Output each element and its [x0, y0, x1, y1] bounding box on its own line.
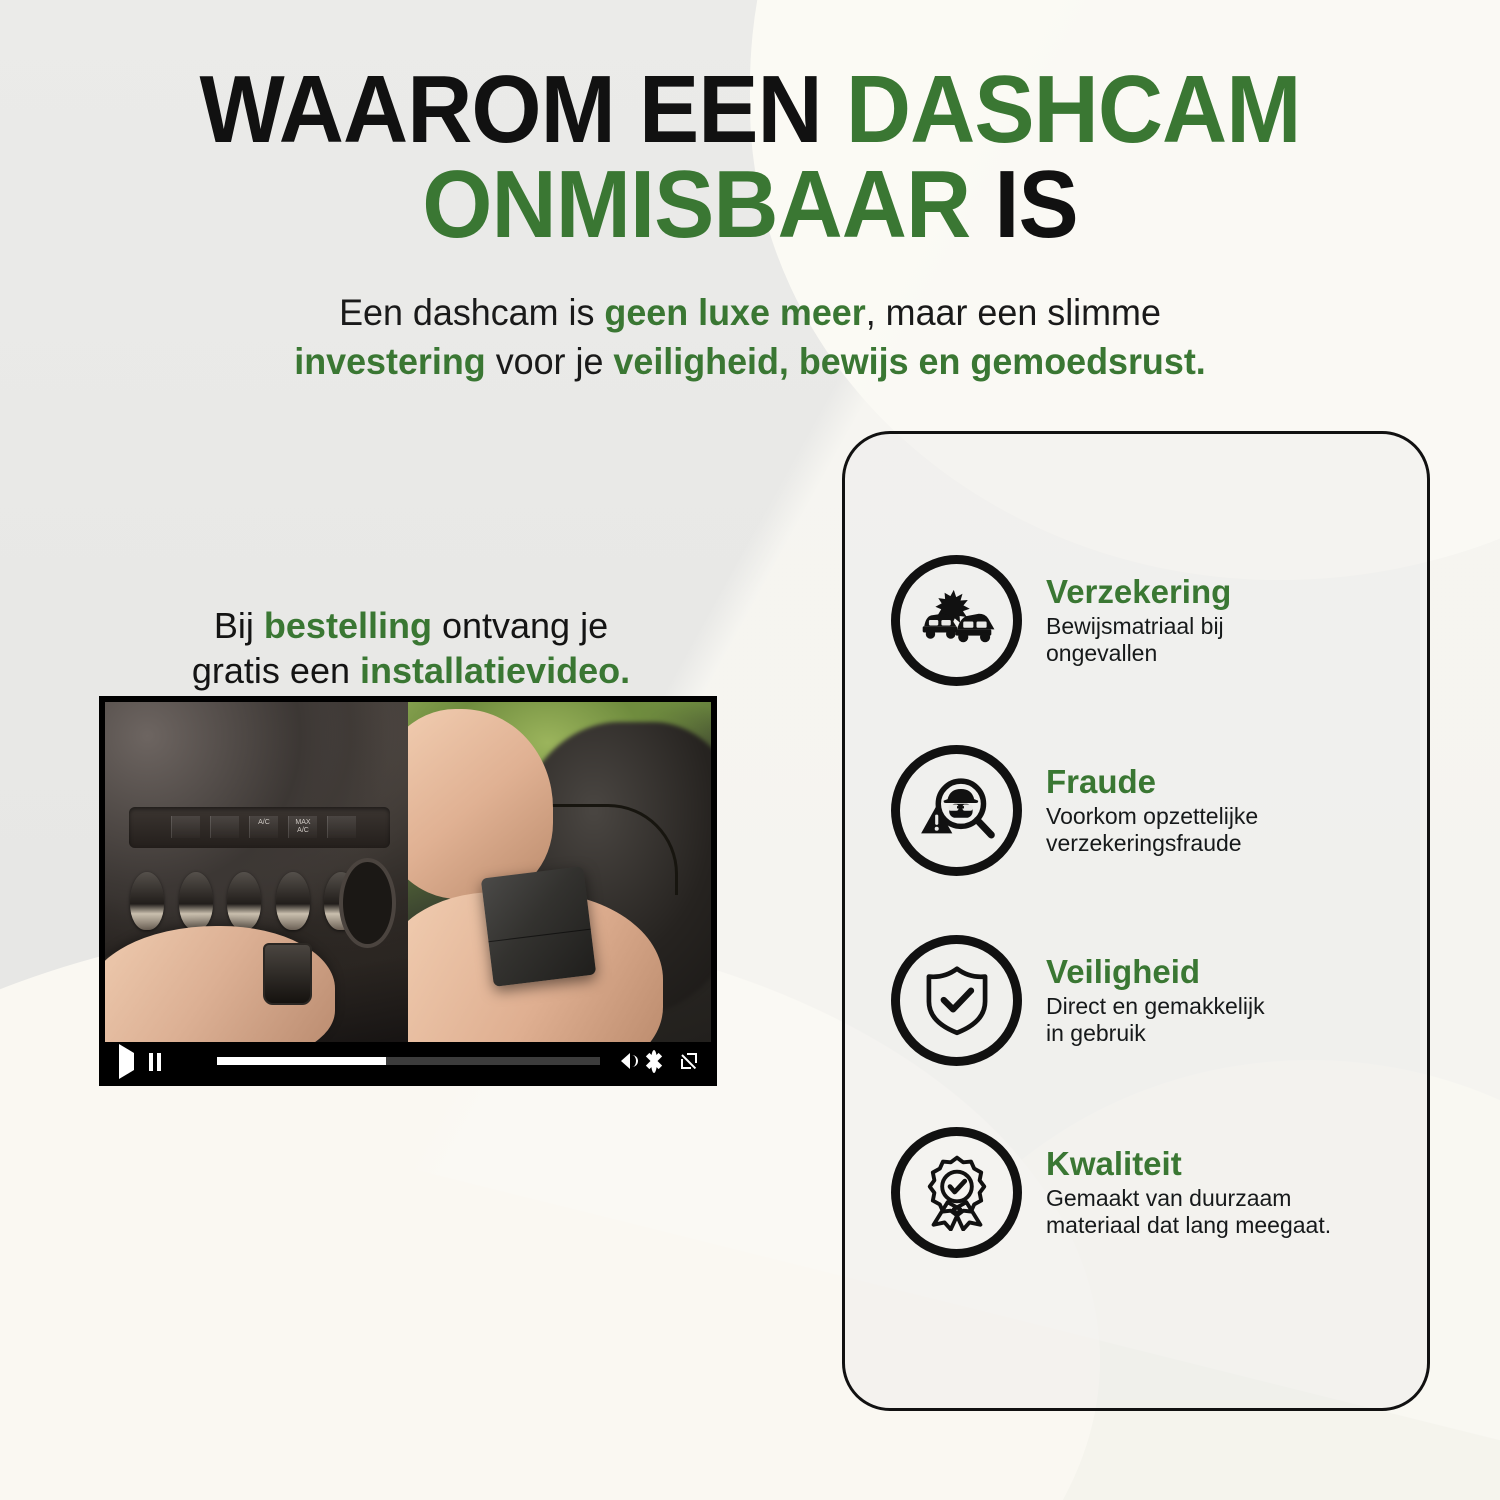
video-caption: Bij bestelling ontvang je gratis een ins…	[96, 603, 726, 694]
video-caption-text-2: ontvang je	[432, 605, 608, 646]
fullscreen-icon[interactable]	[681, 1053, 697, 1069]
ac-button-4: MAXA/C	[288, 816, 317, 837]
12v-plug	[263, 943, 312, 1005]
feature-title: Verzekering	[1046, 575, 1391, 610]
pause-icon[interactable]	[149, 1053, 166, 1070]
feature-item-kwaliteit: Kwaliteit Gemaakt van duurzaam materiaal…	[891, 1112, 1391, 1272]
car-crash-icon	[891, 555, 1022, 686]
shield-check-icon	[891, 935, 1022, 1066]
video-caption-highlight-1: bestelling	[264, 605, 432, 646]
video-thumbnail[interactable]: A/C MAXA/C	[105, 702, 711, 1042]
video-frame-left-dashboard: A/C MAXA/C	[105, 702, 408, 1042]
video-caption-highlight-2: installatievideo.	[360, 650, 630, 691]
subtitle-highlight-3: veiligheid, bewijs en gemoedsrust.	[613, 341, 1205, 382]
stop-icon[interactable]	[179, 1053, 196, 1070]
subtitle-text-1: Een dashcam is	[339, 292, 604, 333]
subtitle-highlight-2: investering	[294, 341, 485, 382]
headline-part-1: WAAROM EEN	[199, 56, 845, 163]
fraud-magnifier-icon	[891, 745, 1022, 876]
video-player[interactable]: A/C MAXA/C	[99, 696, 717, 1086]
feature-description: Bewijsmatriaal bij ongevallen	[1046, 613, 1391, 667]
dashboard-knob-row	[123, 872, 365, 930]
subtitle-text-2: , maar een slimme	[866, 292, 1161, 333]
play-icon[interactable]	[119, 1053, 136, 1070]
dashboard-dial	[339, 858, 395, 948]
dashcam-device	[481, 866, 597, 987]
headline-part-2: DASHCAM	[846, 56, 1301, 163]
dashboard-knob	[179, 872, 213, 930]
dashboard-knob	[276, 872, 310, 930]
headline-part-3: ONMISBAAR	[422, 151, 994, 258]
benefits-card: Verzekering Bewijsmatriaal bij ongevalle…	[842, 431, 1430, 1411]
ac-button-1	[171, 816, 200, 837]
video-progress-bar[interactable]	[217, 1057, 600, 1065]
video-caption-text-1: Bij	[214, 605, 264, 646]
infographic-page: WAAROM EEN DASHCAM ONMISBAAR IS Een dash…	[0, 0, 1500, 1500]
headline-part-4: IS	[994, 151, 1077, 258]
feature-description: Direct en gemakkelijk in gebruik	[1046, 993, 1391, 1047]
video-controls-bar[interactable]	[105, 1042, 711, 1080]
upper-hand	[408, 709, 553, 899]
page-subtitle: Een dashcam is geen luxe meer, maar een …	[168, 288, 1332, 386]
feature-title: Fraude	[1046, 765, 1391, 800]
car-dashboard-photo: A/C MAXA/C	[105, 702, 408, 1042]
subtitle-highlight-1: geen luxe meer	[604, 292, 865, 333]
dashboard-knob	[227, 872, 261, 930]
feature-title: Kwaliteit	[1046, 1147, 1391, 1182]
feature-item-fraude: Fraude Voorkom opzettelijke verzekerings…	[891, 730, 1391, 890]
dashcam-in-hands-photo	[408, 702, 711, 1042]
video-caption-text-3: gratis een	[192, 650, 360, 691]
page-title: WAAROM EEN DASHCAM ONMISBAAR IS	[45, 62, 1455, 252]
ac-button-3: A/C	[249, 816, 278, 837]
dashboard-knob	[130, 872, 164, 930]
feature-description: Voorkom opzettelijke verzekeringsfraude	[1046, 803, 1391, 857]
feature-title: Veiligheid	[1046, 955, 1391, 990]
subtitle-text-3: voor je	[486, 341, 614, 382]
feature-item-verzekering: Verzekering Bewijsmatriaal bij ongevalle…	[891, 540, 1391, 700]
volume-icon[interactable]	[621, 1053, 638, 1070]
feature-description: Gemaakt van duurzaam materiaal dat lang …	[1046, 1185, 1391, 1239]
ac-button-2	[210, 816, 239, 837]
video-frame-right-dashcam	[408, 702, 711, 1042]
video-progress-fill	[217, 1057, 386, 1065]
gear-icon[interactable]	[651, 1053, 668, 1070]
ac-button-5	[327, 816, 356, 837]
quality-badge-icon	[891, 1127, 1022, 1258]
ac-button-strip: A/C MAXA/C	[129, 807, 390, 848]
feature-item-veiligheid: Veiligheid Direct en gemakkelijk in gebr…	[891, 920, 1391, 1080]
